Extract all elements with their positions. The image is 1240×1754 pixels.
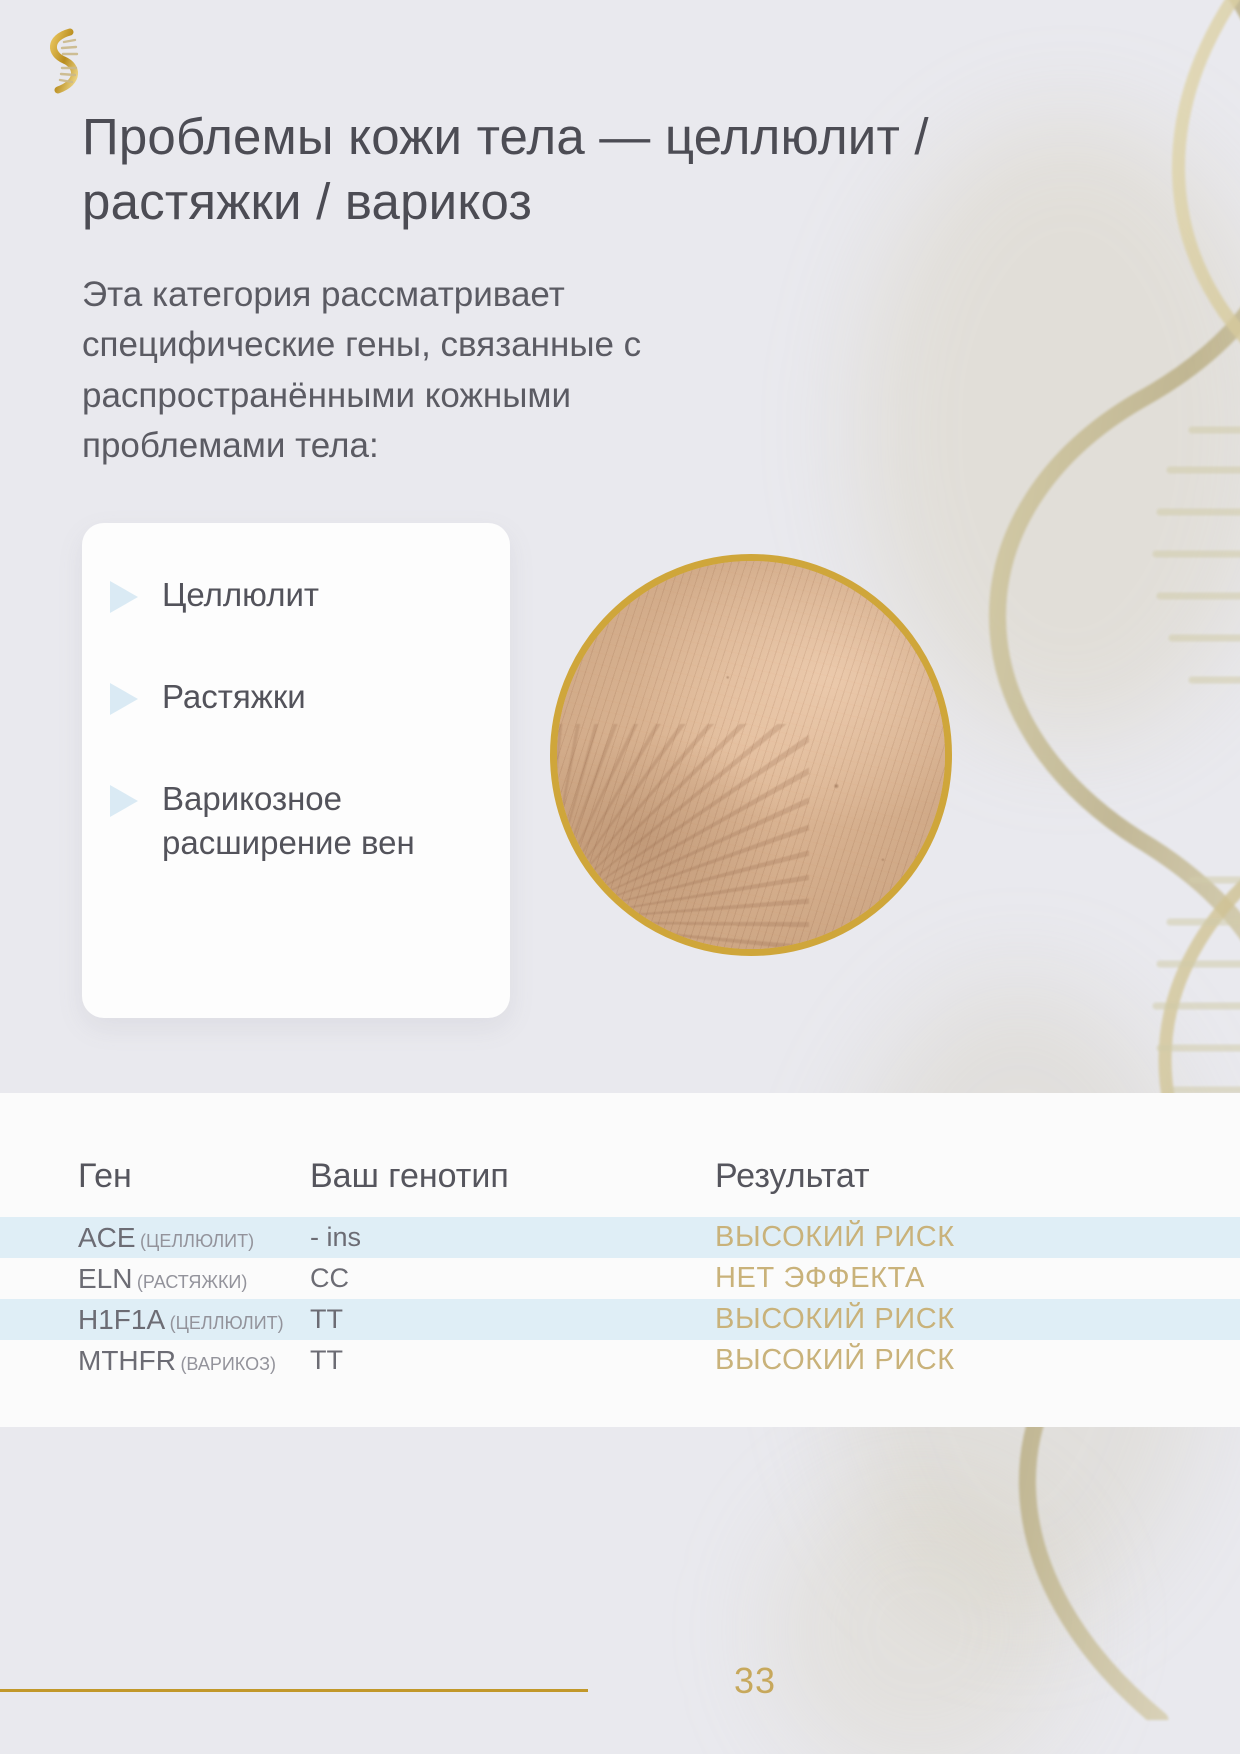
triangle-bullet-icon [110,683,138,715]
cell-result: ВЫСОКИЙ РИСК [715,1303,1240,1336]
cell-result: ВЫСОКИЙ РИСК [715,1344,1240,1377]
cell-gene: H1F1A (ЦЕЛЛЮЛИТ) [0,1304,310,1336]
conditions-card: Целлюлит Растяжки Варикозное расширение … [82,523,510,1018]
list-item-label: Варикозное расширение вен [162,777,490,865]
table-row[interactable]: ACE (ЦЕЛЛЮЛИТ) - ins ВЫСОКИЙ РИСК [0,1217,1240,1258]
background-glow-bottom [770,1480,1070,1754]
photo-spots-layer [557,561,945,949]
triangle-bullet-icon [110,581,138,613]
gene-name: ACE [78,1222,136,1253]
list-item[interactable]: Целлюлит [110,573,490,617]
gene-note: (ЦЕЛЛЮЛИТ) [170,1313,284,1333]
conditions-list: Целлюлит Растяжки Варикозное расширение … [110,573,490,865]
column-header-result: Результат [715,1157,1240,1196]
cell-genotype: TT [310,1304,715,1335]
gene-note: (РАСТЯЖКИ) [137,1272,247,1292]
cell-genotype: - ins [310,1222,715,1253]
column-header-genotype: Ваш генотип [310,1157,715,1196]
cell-genotype: CC [310,1263,715,1294]
table-header-row: Ген Ваш генотип Результат [0,1135,1240,1217]
footer-divider [0,1689,588,1692]
cell-gene: MTHFR (ВАРИКОЗ) [0,1345,310,1377]
table-top-spacer [0,1093,1240,1135]
table-row[interactable]: H1F1A (ЦЕЛЛЮЛИТ) TT ВЫСОКИЙ РИСК [0,1299,1240,1340]
page-number: 33 [734,1660,776,1702]
triangle-bullet-icon [110,785,138,817]
genotype-results-table: Ген Ваш генотип Результат ACE (ЦЕЛЛЮЛИТ)… [0,1093,1240,1427]
slide-page: Проблемы кожи тела — целлюлит / растяжки… [0,0,1240,1754]
table-bottom-spacer [0,1381,1240,1427]
table-row[interactable]: MTHFR (ВАРИКОЗ) TT ВЫСОКИЙ РИСК [0,1340,1240,1381]
cell-genotype: TT [310,1345,715,1376]
cell-gene: ELN (РАСТЯЖКИ) [0,1263,310,1295]
cell-result: НЕТ ЭФФЕКТА [715,1262,1240,1295]
column-header-gene: Ген [0,1157,310,1196]
gene-name: MTHFR [78,1345,176,1376]
gene-name: ELN [78,1263,132,1294]
page-title: Проблемы кожи тела — целлюлит / растяжки… [82,104,962,235]
list-item[interactable]: Растяжки [110,675,490,719]
dna-helix-logo [34,26,94,96]
list-item[interactable]: Варикозное расширение вен [110,777,490,865]
cell-result: ВЫСОКИЙ РИСК [715,1221,1240,1254]
list-item-label: Растяжки [162,675,306,719]
intro-paragraph: Эта категория рассматривает специфически… [82,270,782,472]
list-item-label: Целлюлит [162,573,319,617]
gene-note: (ЦЕЛЛЮЛИТ) [140,1231,254,1251]
cellulite-skin-photo [550,554,952,956]
gene-name: H1F1A [78,1304,165,1335]
gene-note: (ВАРИКОЗ) [180,1354,276,1374]
table-row[interactable]: ELN (РАСТЯЖКИ) CC НЕТ ЭФФЕКТА [0,1258,1240,1299]
cell-gene: ACE (ЦЕЛЛЮЛИТ) [0,1222,310,1254]
